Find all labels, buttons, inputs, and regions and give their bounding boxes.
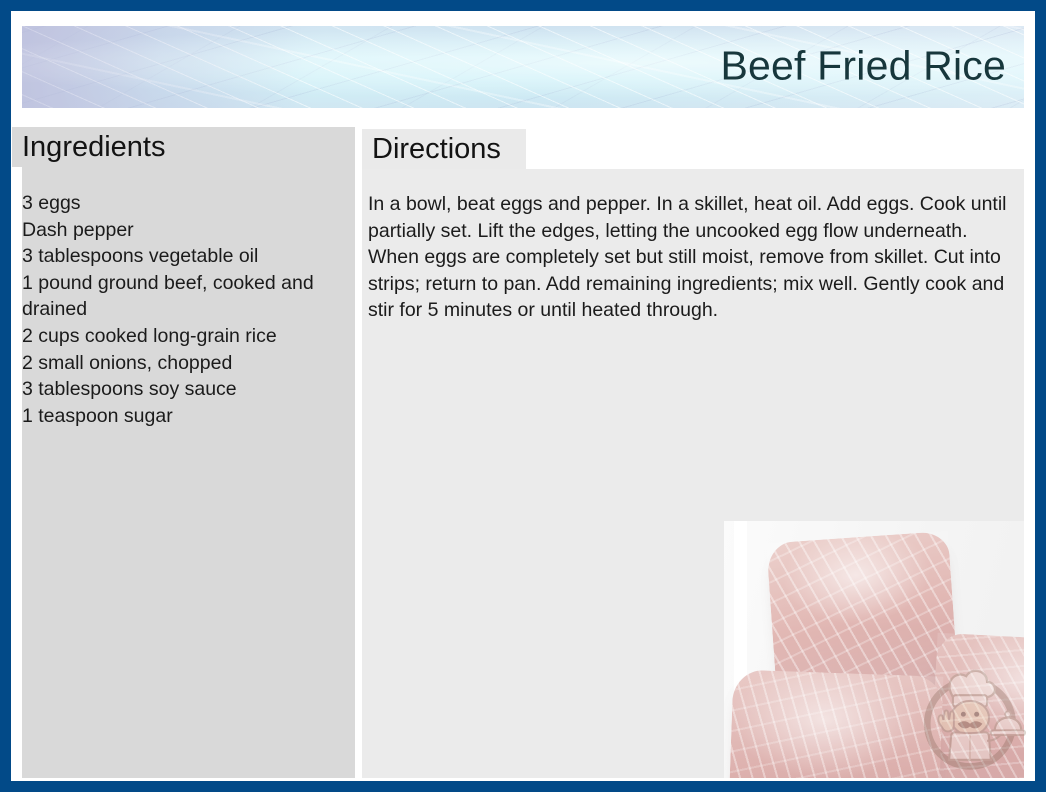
list-item: 3 eggs	[22, 190, 352, 217]
ingredients-list: 3 eggs Dash pepper 3 tablespoons vegetab…	[22, 190, 352, 429]
directions-body-text: In a bowl, beat eggs and pepper. In a sk…	[368, 191, 1020, 324]
slide-border-bottom	[0, 781, 1046, 792]
directions-heading-label: Directions	[372, 135, 501, 164]
list-item: 2 small onions, chopped	[22, 350, 352, 377]
list-item: 1 pound ground beef, cooked and drained	[22, 270, 352, 323]
page-title: Beef Fried Rice	[720, 46, 1006, 87]
list-item: Dash pepper	[22, 217, 352, 244]
ingredients-heading-label: Ingredients	[22, 133, 166, 162]
slide-border-top	[0, 0, 1046, 11]
list-item: 2 cups cooked long-grain rice	[22, 323, 352, 350]
ingredients-heading-tab: Ingredients	[12, 127, 201, 167]
cloche-knob	[1005, 711, 1011, 717]
slide-border-left	[0, 0, 11, 792]
title-banner: Beef Fried Rice	[22, 26, 1024, 108]
directions-heading-tab: Directions	[362, 129, 526, 169]
list-item: 3 tablespoons vegetable oil	[22, 243, 352, 270]
list-item: 1 teaspoon sugar	[22, 403, 352, 430]
chef-face	[951, 701, 989, 735]
beef-cube-front	[727, 669, 944, 778]
chef-eye-right	[974, 712, 979, 717]
recipe-slide: Beef Fried Rice Ingredients 3 eggs Dash …	[0, 0, 1046, 792]
list-item: 3 tablespoons soy sauce	[22, 376, 352, 403]
chef-hat-icon	[949, 671, 994, 697]
chef-logo	[913, 660, 1027, 776]
cube-fade-overlay	[727, 669, 944, 778]
slide-border-right	[1035, 0, 1046, 792]
cloche-dome-icon	[995, 718, 1022, 732]
chef-waving-hand	[938, 710, 953, 731]
cloche-base	[991, 730, 1025, 735]
chef-eye-left	[961, 712, 966, 717]
